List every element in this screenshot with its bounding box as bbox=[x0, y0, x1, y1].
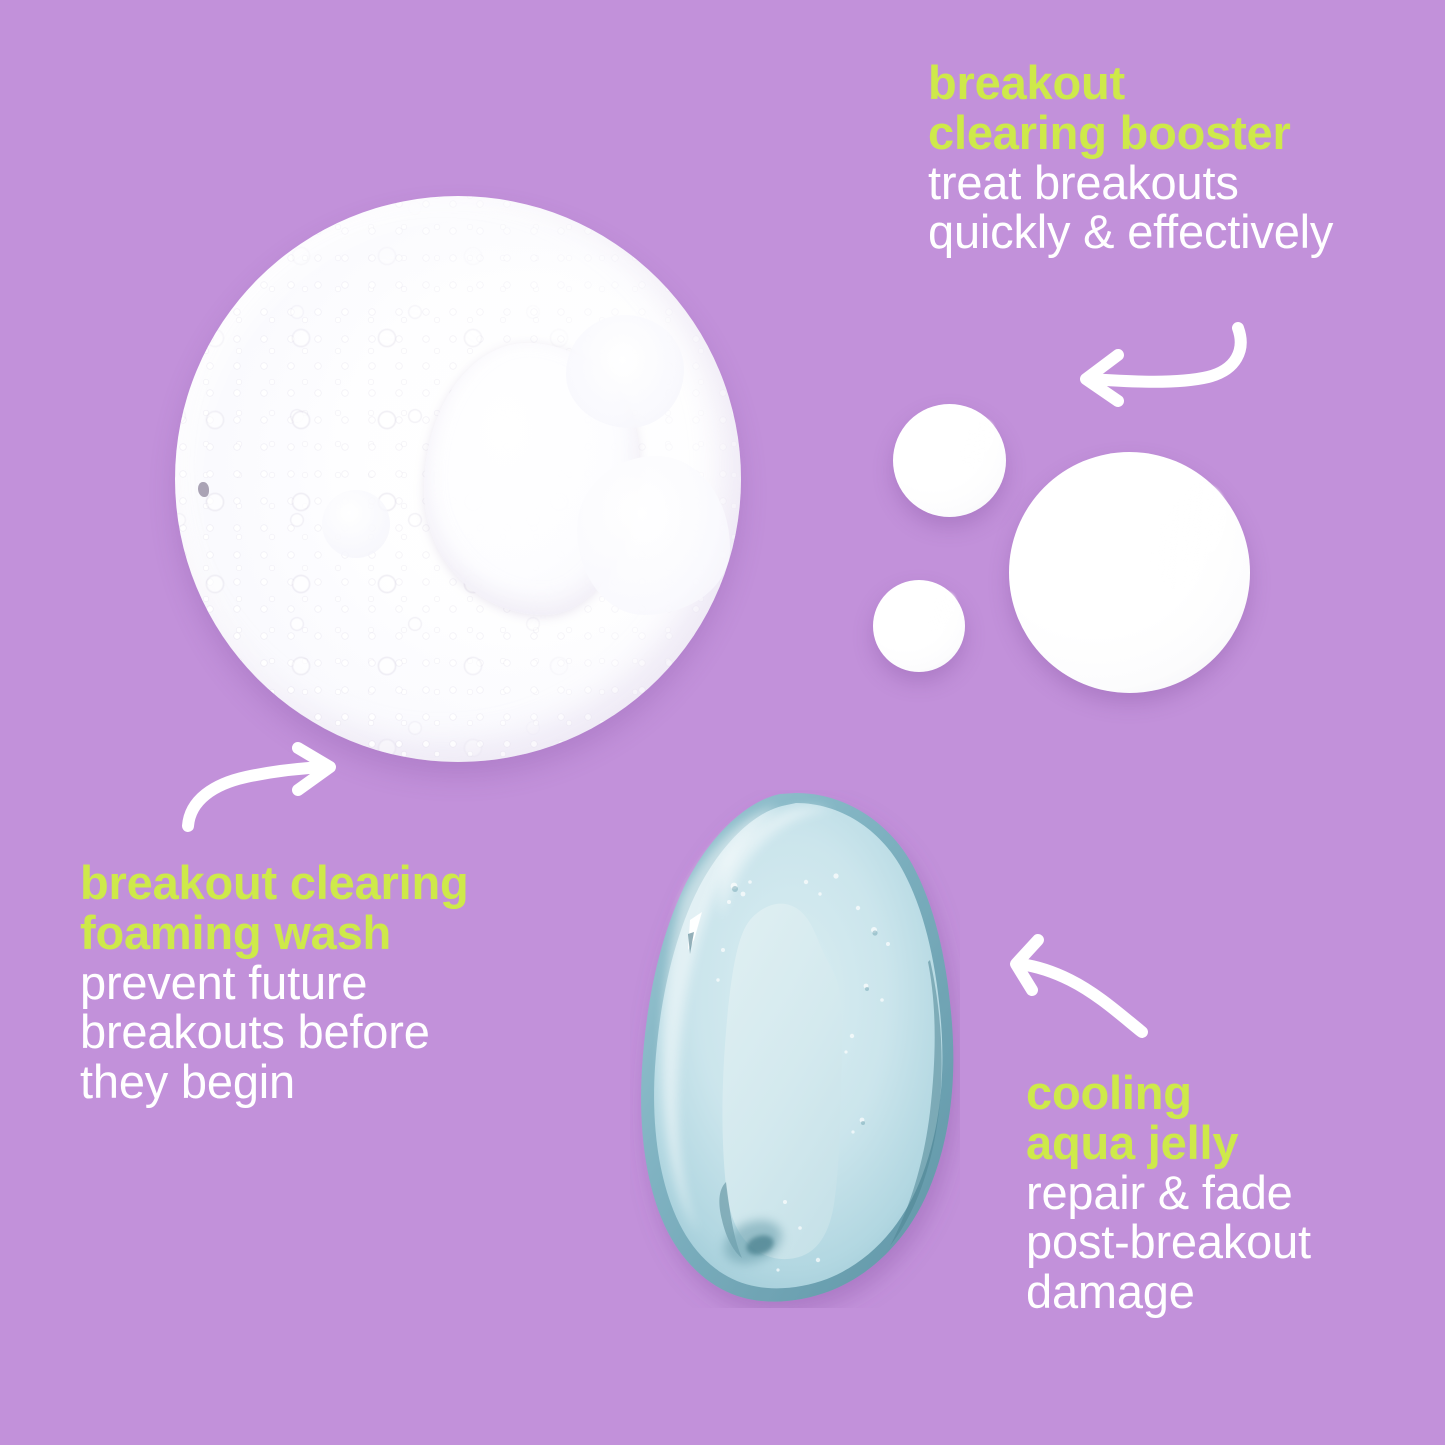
foam-blob-top-right bbox=[566, 315, 685, 428]
jelly-heading-line2: aqua jelly bbox=[1026, 1118, 1406, 1168]
wash-heading-line1: breakout clearing bbox=[80, 858, 530, 908]
arrow-to-foaming-wash bbox=[180, 752, 340, 834]
wash-body-line3: they begin bbox=[80, 1057, 530, 1107]
droplet-highlight bbox=[923, 588, 961, 636]
foam-blob-right bbox=[577, 456, 730, 614]
product-infographic: breakout clearing booster treat breakout… bbox=[0, 0, 1445, 1445]
callout-breakout-clearing-booster: breakout clearing booster treat breakout… bbox=[928, 58, 1398, 257]
droplet-highlight bbox=[1140, 473, 1240, 599]
jelly-body-line1: repair & fade bbox=[1026, 1168, 1406, 1218]
booster-heading-line1: breakout bbox=[928, 58, 1398, 108]
aqua-jelly-swatch-image bbox=[630, 790, 960, 1308]
booster-droplet-large bbox=[1009, 452, 1250, 693]
wash-heading-line2: foaming wash bbox=[80, 908, 530, 958]
booster-droplet-small-top bbox=[893, 404, 1006, 517]
jelly-body-line3: damage bbox=[1026, 1267, 1406, 1317]
foam-speck bbox=[198, 482, 209, 497]
foam-blob-small bbox=[322, 490, 390, 558]
arrow-to-booster-droplets bbox=[1060, 322, 1250, 402]
booster-body-line2: quickly & effectively bbox=[928, 207, 1398, 257]
droplet-highlight bbox=[954, 414, 1001, 473]
jelly-body-line2: post-breakout bbox=[1026, 1217, 1406, 1267]
wash-body-line2: breakouts before bbox=[80, 1007, 530, 1057]
arrow-to-aqua-jelly bbox=[1002, 938, 1152, 1038]
booster-body-line1: treat breakouts bbox=[928, 158, 1398, 208]
callout-breakout-clearing-foaming-wash: breakout clearing foaming wash prevent f… bbox=[80, 858, 530, 1107]
jelly-heading-line1: cooling bbox=[1026, 1068, 1406, 1118]
booster-heading-line2: clearing booster bbox=[928, 108, 1398, 158]
foam-swatch-image bbox=[175, 196, 741, 762]
callout-cooling-aqua-jelly: cooling aqua jelly repair & fade post-br… bbox=[1026, 1068, 1406, 1317]
booster-droplet-small-bottom bbox=[873, 580, 965, 672]
wash-body-line1: prevent future bbox=[80, 958, 530, 1008]
jelly-inner-core bbox=[722, 904, 842, 1260]
